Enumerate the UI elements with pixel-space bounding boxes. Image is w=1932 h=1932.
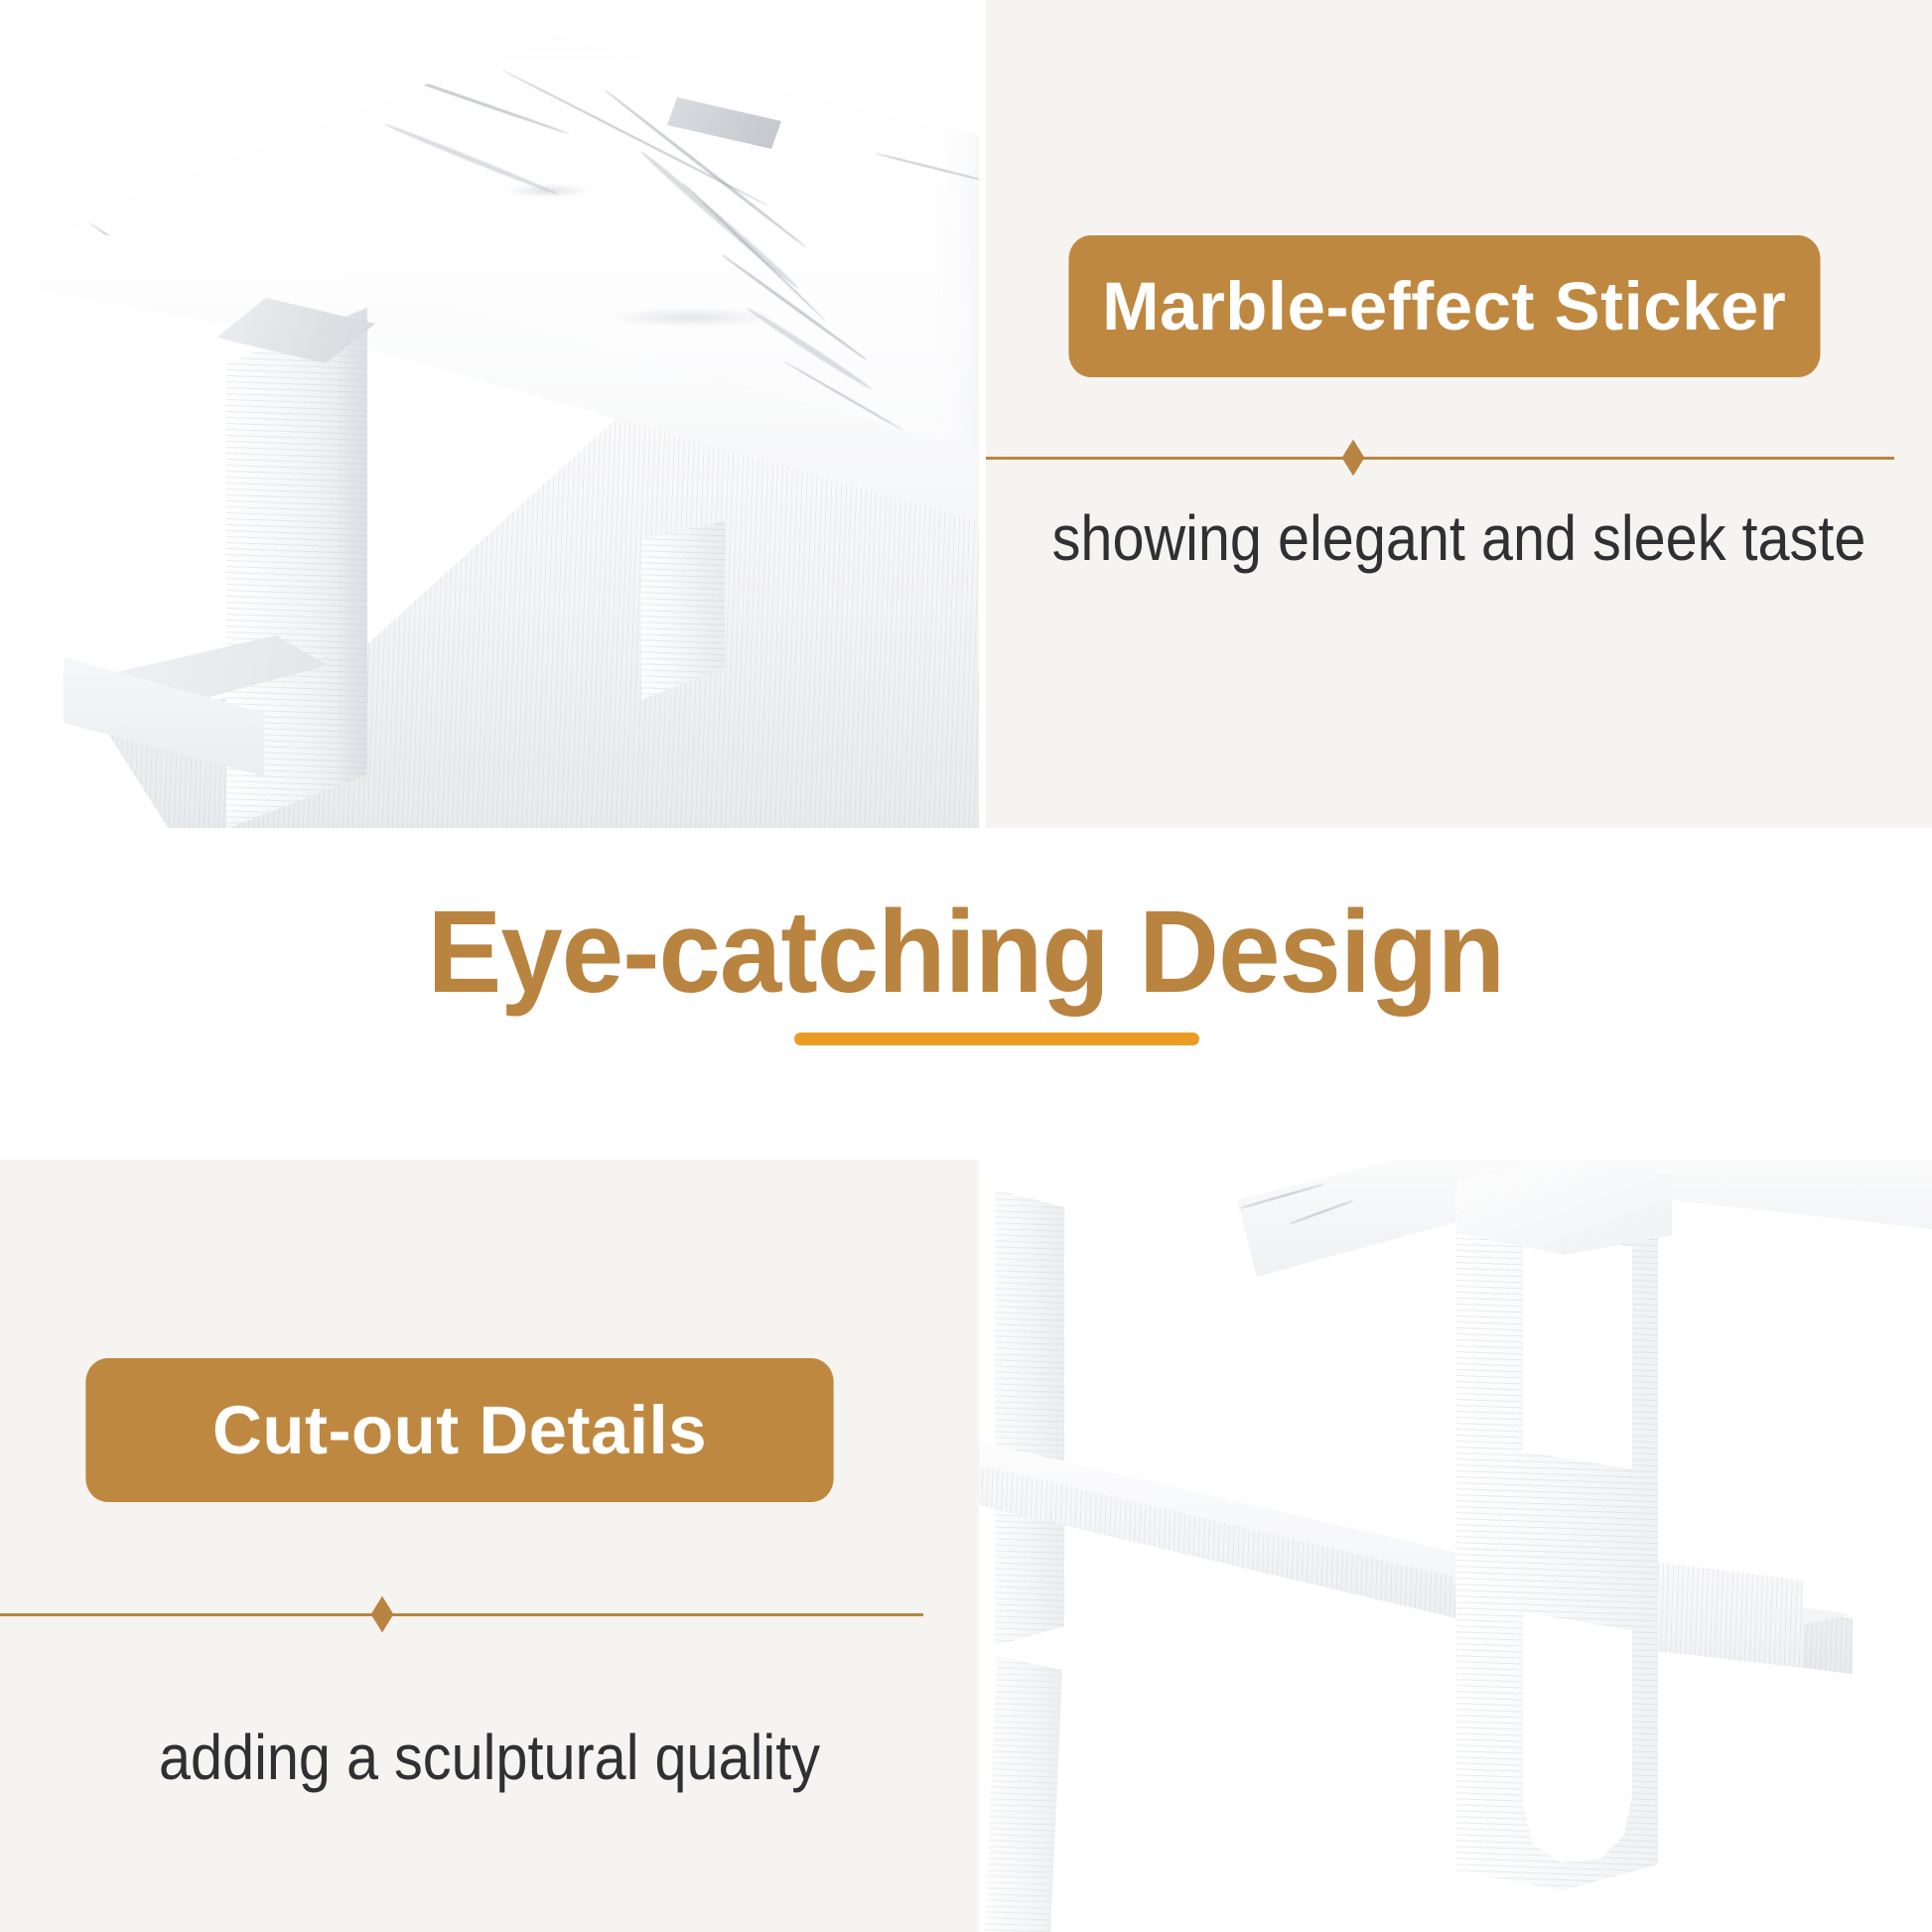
badge-marble-effect-sticker[interactable]: Marble-effect Sticker: [1068, 235, 1820, 377]
product-feature-infographic: Marble-effect Sticker showing elegant an…: [0, 0, 1932, 1932]
leg-back-left: [979, 1189, 1064, 1646]
feature-panel-marble: Marble-effect Sticker showing elegant an…: [986, 0, 1932, 828]
leg-back-left-lower: [979, 1656, 1062, 1932]
diamond-ornament-icon: [1342, 440, 1365, 477]
divider-cutout: [0, 1601, 923, 1627]
badge-label: Marble-effect Sticker: [1102, 267, 1786, 345]
headline-block: Eye-catching Design: [0, 894, 1932, 1011]
caption-cutout: adding a sculptural quality: [49, 1721, 929, 1794]
badge-cut-out-details[interactable]: Cut-out Details: [85, 1358, 833, 1502]
divider-line: [0, 1613, 923, 1616]
divider-line: [986, 457, 1894, 460]
photo-cutout-leg: [979, 1160, 1932, 1932]
photo-marble-tabletop: [0, 0, 979, 828]
diamond-ornament-icon: [371, 1596, 394, 1633]
badge-label: Cut-out Details: [212, 1391, 707, 1469]
headline-underline-bar: [794, 1033, 1199, 1045]
divider-marble: [986, 445, 1894, 471]
caption-marble: showing elegant and sleek taste: [1034, 501, 1885, 575]
feature-panel-cutout: Cut-out Details adding a sculptural qual…: [0, 1160, 979, 1932]
support-post-center: [633, 521, 725, 700]
page-title: Eye-catching Design: [428, 894, 1505, 1011]
